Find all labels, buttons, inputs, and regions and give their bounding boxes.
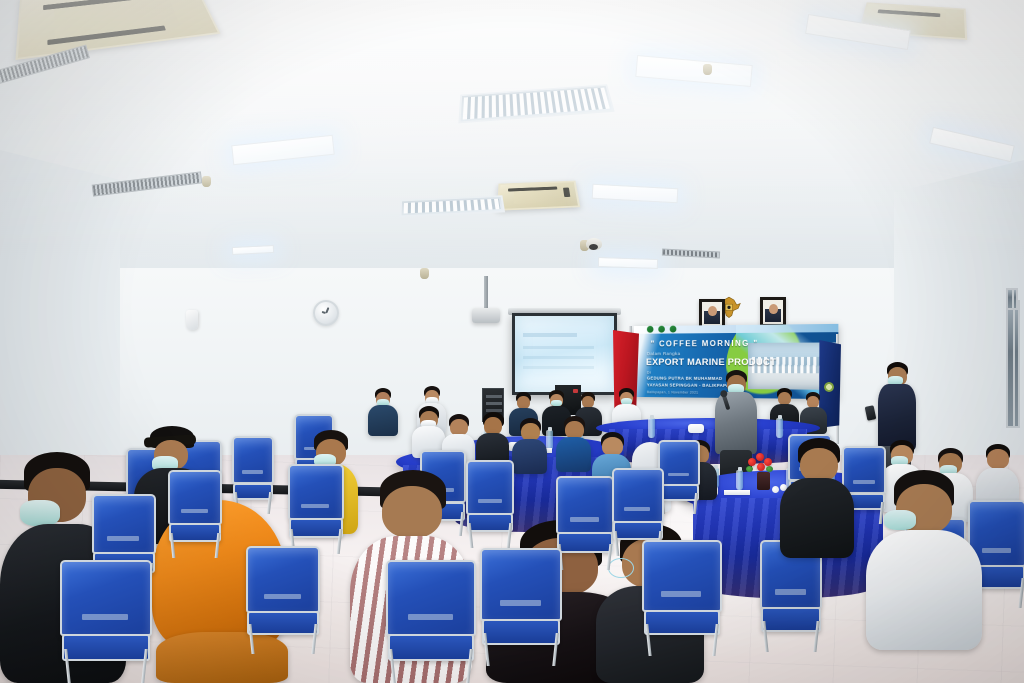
banner-main-title: EXPORT MARINE PRODUCT <box>646 357 776 368</box>
ac-cassette-unit-2 <box>497 181 580 211</box>
water-bottle-r2 <box>736 470 743 490</box>
banner-date-text: Balikpapan, 1 November 2021 <box>647 390 698 394</box>
chair-fg-2[interactable] <box>386 560 476 683</box>
cctv-dome-camera <box>586 238 602 250</box>
banner-logo-row <box>647 324 774 334</box>
right-wall-window <box>1006 300 1020 428</box>
sprinkler-head-4 <box>420 268 429 279</box>
seated-person-fg-white-shirt <box>866 470 984 650</box>
chair-fg-8[interactable] <box>556 476 614 570</box>
ceiling-light-panel-6 <box>598 257 658 269</box>
red-rose-centerpiece <box>746 452 776 476</box>
chair-fg-10[interactable] <box>168 470 222 558</box>
banner-di-text: Di <box>647 370 651 375</box>
seated-person-backrow-1 <box>366 388 400 436</box>
chair-fg-3[interactable] <box>480 548 562 666</box>
water-bottle-head-3 <box>776 418 783 438</box>
sprinkler-head-1 <box>202 176 211 187</box>
chair-fg-1[interactable] <box>60 560 152 683</box>
chair-fg-7[interactable] <box>288 464 344 554</box>
banner-venue-line1: GEDUNG PUTRA BK MUHAMMAD <box>647 376 722 381</box>
right-wall-window-upper <box>1006 288 1018 310</box>
banner-coffee-morning-text: " COFFEE MORNING " <box>651 339 759 348</box>
chair-rt-1[interactable] <box>658 440 700 514</box>
tissue-box-head <box>688 424 704 433</box>
meeting-room-photo: " COFFEE MORNING " Dalam Rangka EXPORT M… <box>0 0 1024 683</box>
seated-person-mid-3 <box>476 412 510 466</box>
sprinkler-head-2 <box>703 64 712 75</box>
wall-speaker <box>186 310 198 330</box>
seated-person-fg-blue-polo <box>780 438 856 558</box>
banner-dalam-rangka-text: Dalam Rangka <box>647 351 681 356</box>
projection-screen[interactable] <box>512 313 617 395</box>
projection-screen-surface <box>515 316 614 392</box>
projector-mount-pole <box>484 276 488 310</box>
water-bottle-head-1 <box>648 418 655 438</box>
papers-on-table-r <box>724 490 750 495</box>
chair-fg-4[interactable] <box>642 540 722 656</box>
seated-person-mid-5 <box>556 416 592 472</box>
wall-clock <box>313 300 339 326</box>
chair-fg-5[interactable] <box>246 546 320 654</box>
ceiling-projector <box>472 308 500 323</box>
seated-person-mid-4 <box>512 418 548 474</box>
vice-president-portrait <box>760 297 786 327</box>
